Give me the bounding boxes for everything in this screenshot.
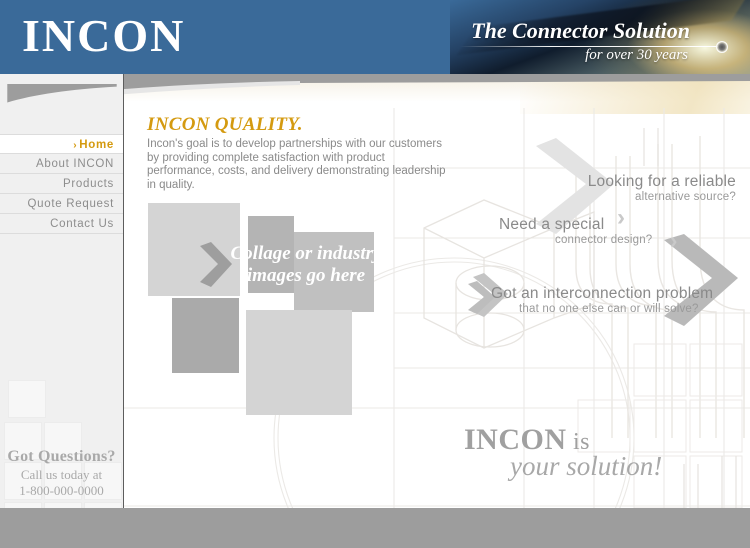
got-questions-line1: Call us today at	[0, 467, 123, 483]
site-header: INCON The Connector Solution for over 30…	[0, 0, 750, 74]
nav-item-products[interactable]: Products	[0, 174, 123, 194]
header-tagline: The Connector Solution for over 30 years	[392, 18, 692, 64]
question-3-sub: that no one else can or will solve?	[491, 303, 713, 315]
nav-label-quote-request: Quote Request	[28, 198, 114, 210]
collage-block-5	[246, 310, 352, 415]
question-block-2: Need a special connector design?	[499, 216, 652, 246]
collage-block-4	[172, 298, 239, 373]
got-questions-phone: 1-800-000-0000	[0, 483, 123, 499]
chevron-large-decoration-2	[654, 234, 750, 332]
nav-item-quote-request[interactable]: Quote Request	[0, 194, 123, 214]
question-3-main: Got an interconnection problem	[491, 285, 713, 303]
nav-item-home[interactable]: ›Home	[0, 134, 123, 154]
sidebar-curve-decoration	[0, 84, 124, 114]
tagline-dot-icon	[716, 41, 728, 53]
collage-placeholder[interactable]: Collage or industry images go here	[148, 203, 408, 428]
main-content: › › INCON QUALITY. Incon's goal is to de…	[124, 108, 750, 508]
question-2-main: Need a special	[499, 216, 652, 234]
tagline-underline	[460, 46, 718, 47]
got-questions-block: Got Questions? Call us today at 1-800-00…	[0, 448, 123, 499]
nav-item-contact-us[interactable]: Contact Us	[0, 214, 123, 234]
nav-item-about[interactable]: About INCON	[0, 154, 123, 174]
nav-label-contact-us: Contact Us	[50, 218, 114, 230]
collage-placeholder-label: Collage or industry images go here	[216, 243, 396, 287]
solution-statement: INCON is your solution!	[464, 423, 662, 482]
question-2-sub: connector design?	[499, 234, 652, 246]
question-block-1: Looking for a reliable alternative sourc…	[556, 173, 736, 203]
got-questions-title: Got Questions?	[0, 448, 123, 466]
sidebar: ›Home About INCON Products Quote Request…	[0, 74, 124, 508]
nav-label-products: Products	[63, 178, 114, 190]
tagline-secondary: for over 30 years	[392, 47, 692, 64]
nav-label-about: About INCON	[36, 158, 114, 170]
question-1-main: Looking for a reliable	[556, 173, 736, 191]
chevron-right-icon: ›	[73, 140, 77, 151]
chevron-thin-icon-2: ›	[670, 228, 677, 254]
site-footer	[0, 508, 750, 548]
page-title: INCON QUALITY.	[147, 114, 303, 136]
tagline-primary: The Connector Solution	[392, 18, 692, 44]
question-block-3: Got an interconnection problem that no o…	[491, 285, 713, 315]
intro-paragraph: Incon's goal is to develop partnerships …	[147, 138, 452, 192]
question-1-sub: alternative source?	[556, 191, 736, 203]
main-navigation: ›Home About INCON Products Quote Request…	[0, 134, 123, 234]
page-root: INCON The Connector Solution for over 30…	[0, 0, 750, 548]
nav-label-home: Home	[79, 139, 114, 151]
site-logo[interactable]: INCON	[22, 10, 185, 62]
